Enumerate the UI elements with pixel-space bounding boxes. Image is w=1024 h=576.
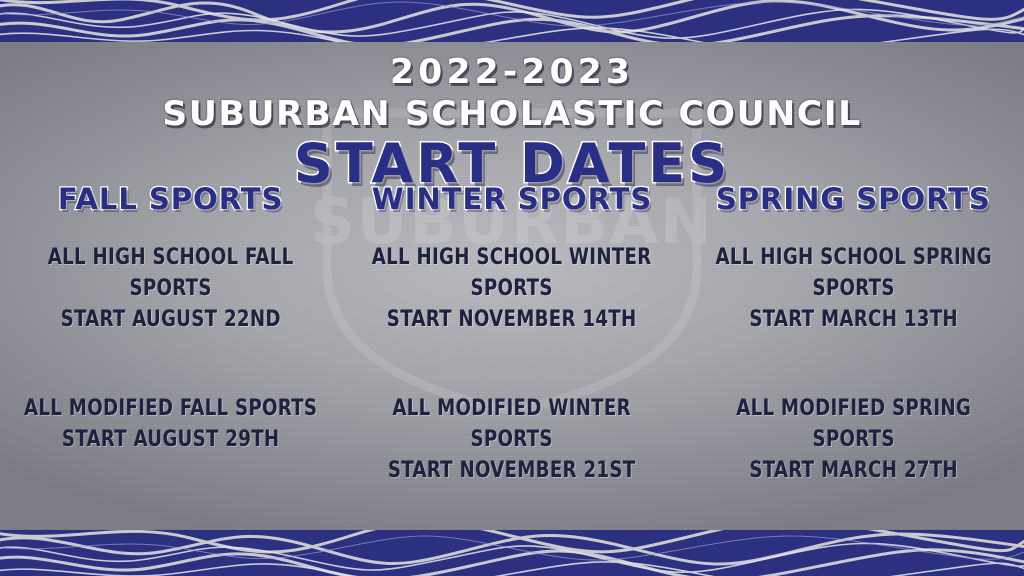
column-heading-winter: WINTER SPORTS: [341, 182, 682, 216]
entry-line1: ALL HIGH SCHOOL FALL SPORTS: [48, 245, 294, 301]
entry-fall-highschool: ALL HIGH SCHOOL FALL SPORTS START AUGUST…: [14, 242, 328, 335]
entry-spring-modified: ALL MODIFIED SPRING SPORTS START MARCH 2…: [696, 393, 1010, 486]
entry-fall-modified: ALL MODIFIED FALL SPORTS START AUGUST 29…: [14, 393, 328, 455]
entry-line1: ALL MODIFIED FALL SPORTS: [24, 396, 317, 421]
entry-line2: START NOVEMBER 21ST: [355, 455, 669, 486]
content-area: 2022-2023 SUBURBAN SCHOLASTIC COUNCIL ST…: [0, 42, 1024, 530]
entry-line1: ALL HIGH SCHOOL WINTER SPORTS: [372, 245, 652, 301]
entry-line2: START MARCH 13TH: [696, 304, 1010, 335]
column-winter: WINTER SPORTS ALL HIGH SCHOOL WINTER SPO…: [341, 182, 682, 576]
season-year: 2022-2023: [0, 52, 1024, 92]
entry-line2: START AUGUST 22ND: [14, 304, 328, 335]
season-columns: FALL SPORTS ALL HIGH SCHOOL FALL SPORTS …: [0, 182, 1024, 576]
top-marble-band: [0, 0, 1024, 42]
column-heading-fall: FALL SPORTS: [0, 182, 341, 216]
column-spring: SPRING SPORTS ALL HIGH SCHOOL SPRING SPO…: [683, 182, 1024, 576]
graphic-canvas: SUBURBAN 2022-2023 SUBURBAN SCHOLASTIC C…: [0, 0, 1024, 576]
entry-line2: START NOVEMBER 14TH: [355, 304, 669, 335]
entry-winter-highschool: ALL HIGH SCHOOL WINTER SPORTS START NOVE…: [355, 242, 669, 335]
column-fall: FALL SPORTS ALL HIGH SCHOOL FALL SPORTS …: [0, 182, 341, 576]
entry-line1: ALL HIGH SCHOOL SPRING SPORTS: [715, 245, 991, 301]
council-name: SUBURBAN SCHOLASTIC COUNCIL: [0, 94, 1024, 134]
entry-line1: ALL MODIFIED SPRING SPORTS: [736, 396, 971, 452]
entry-line2: START MARCH 27TH: [696, 455, 1010, 486]
entry-line2: START AUGUST 29TH: [14, 424, 328, 455]
entry-line1: ALL MODIFIED WINTER SPORTS: [393, 396, 631, 452]
entry-spring-highschool: ALL HIGH SCHOOL SPRING SPORTS START MARC…: [696, 242, 1010, 335]
marble-pattern-bottom: [0, 530, 1024, 576]
marble-pattern-top: [0, 0, 1024, 42]
column-heading-spring: SPRING SPORTS: [683, 182, 1024, 216]
entry-winter-modified: ALL MODIFIED WINTER SPORTS START NOVEMBE…: [355, 393, 669, 486]
bottom-marble-band: [0, 530, 1024, 576]
